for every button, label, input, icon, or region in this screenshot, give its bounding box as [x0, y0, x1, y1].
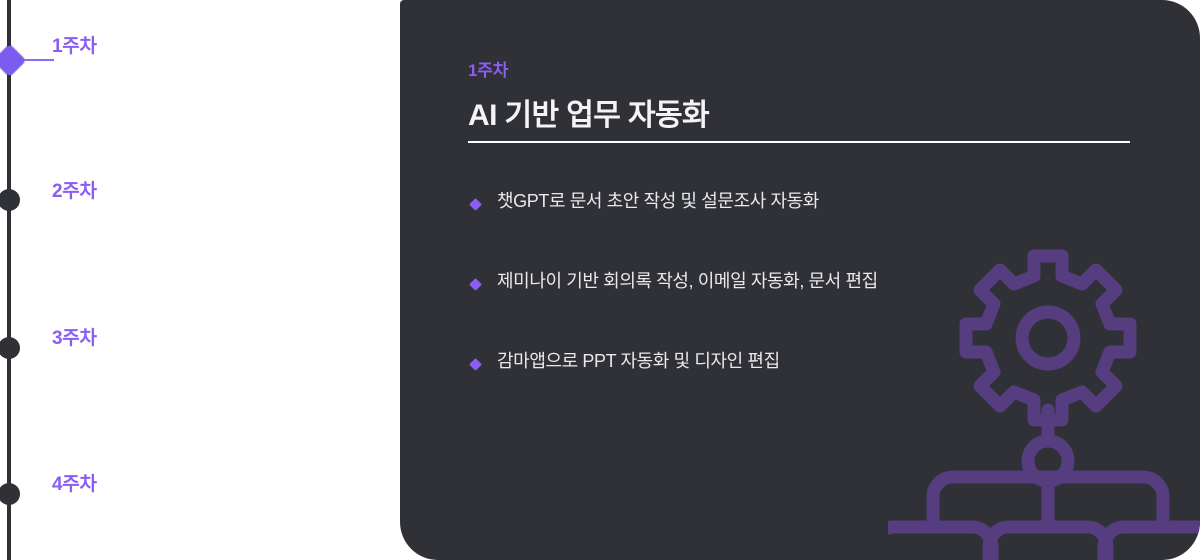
week-detail-card: 1주차 AI 기반 업무 자동화 챗GPT로 문서 초안 작성 및 설문조사 자… [400, 0, 1200, 560]
timeline-label-week2[interactable]: 2주차 [52, 176, 97, 203]
card-bullet-list: 챗GPT로 문서 초안 작성 및 설문조사 자동화 제미나이 기반 회의록 작성… [468, 188, 1168, 428]
slide-root: 1주차 2주차 3주차 4주차 [0, 0, 1200, 560]
timeline-marker-dot-icon [0, 483, 20, 505]
timeline-rail: 1주차 2주차 3주차 4주차 [0, 0, 400, 560]
list-item-text: 감마앱으로 PPT 자동화 및 디자인 편집 [497, 348, 780, 374]
list-item-text: 제미나이 기반 회의록 작성, 이메일 자동화, 문서 편집 [497, 268, 878, 294]
timeline-marker-dot-icon [0, 337, 20, 359]
timeline-marker-dot-icon [0, 189, 20, 211]
timeline-connector-line [24, 59, 54, 61]
list-item: 감마앱으로 PPT 자동화 및 디자인 편집 [468, 348, 1168, 428]
list-item: 챗GPT로 문서 초안 작성 및 설문조사 자동화 [468, 188, 1168, 268]
bullet-diamond-icon [469, 278, 482, 291]
timeline-marker-active-diamond-icon [0, 44, 25, 77]
list-item-text: 챗GPT로 문서 초안 작성 및 설문조사 자동화 [497, 188, 819, 214]
bullet-diamond-icon [469, 358, 482, 371]
card-eyebrow-week: 1주차 [468, 56, 508, 81]
card-divider [468, 141, 1130, 143]
card-title: AI 기반 업무 자동화 [468, 90, 709, 134]
card-content: 1주차 AI 기반 업무 자동화 챗GPT로 문서 초안 작성 및 설문조사 자… [468, 0, 1168, 560]
bullet-diamond-icon [469, 198, 482, 211]
timeline-label-week4[interactable]: 4주차 [52, 469, 97, 496]
timeline-label-week3[interactable]: 3주차 [52, 323, 97, 350]
timeline-label-week1[interactable]: 1주차 [52, 31, 97, 58]
timeline-vertical-line [7, 0, 11, 560]
list-item: 제미나이 기반 회의록 작성, 이메일 자동화, 문서 편집 [468, 268, 1168, 348]
